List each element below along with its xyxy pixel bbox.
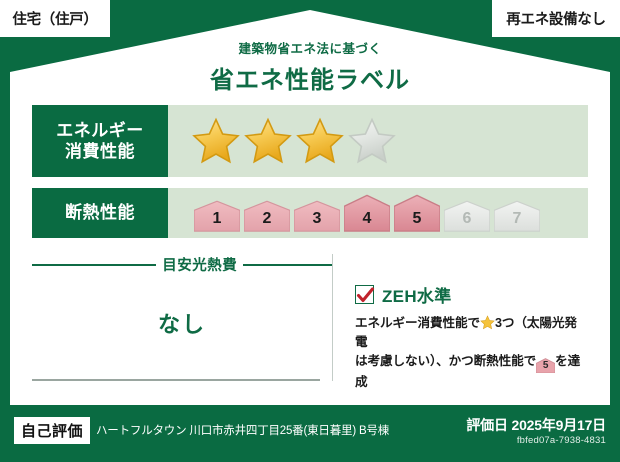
grade-badge-value: 5 [413,211,422,227]
star-icon-filled [244,117,292,165]
zeh-title-row: ZEH水準 [355,282,588,307]
energy-rating-value [168,105,588,177]
property-address: ハートフルタウン 川口市赤井四丁目25番(東日暮里) B号棟 [96,422,389,438]
zeh-checkbox[interactable] [355,285,374,304]
vertical-divider [332,254,333,381]
zeh-title: ZEH水準 [382,282,452,307]
utility-cost-header: 目安光熱費 [32,254,332,275]
star-icon-inline [480,315,495,330]
grade-badge-inline-value: 5 [543,360,548,371]
utility-cost-title: 目安光熱費 [162,254,237,275]
label-energy-performance: エネルギー 消費性能 [32,105,168,177]
insulation-rating-value: 1234567 [168,188,588,238]
grade-badge-on: 5 [394,194,440,232]
grade-badge-inline: 5 [536,358,555,373]
footer: 自己評価 ハートフルタウン 川口市赤井四丁目25番(東日暮里) B号棟 評価日 … [0,405,620,462]
grade-badge-value: 7 [513,211,522,227]
rule-bottom [32,379,320,381]
label-energy-line2: 消費性能 [65,141,135,162]
grade-scale: 1234567 [192,194,540,232]
utility-cost-value: なし [32,307,332,339]
badge-dwelling-type: 住宅（住戸） [0,0,110,37]
check-icon [354,284,377,307]
star-icon-filled [192,117,240,165]
grade-badge-on: 1 [194,200,240,232]
rule-left [32,264,156,266]
rule-right [243,264,332,266]
evaluation-date: 評価日 2025年9月17日 [466,415,606,435]
lower-section: 目安光熱費 なし ZEH水準 エネルギー消費性能で3つ（太陽 [32,250,588,395]
badge-renewable-equipment: 再エネ設備なし [492,0,620,37]
grade-badge-off: 6 [444,200,490,232]
energy-performance-label: 住宅（住戸） 再エネ設備なし 建築物省エネ法に基づく 省エネ性能ラベル エネルギ… [0,0,620,462]
evaluation-date-value: 2025年9月17日 [511,417,606,433]
zeh-desc-part1: エネルギー消費性能で [355,316,480,330]
self-evaluation-badge: 自己評価 [14,417,90,444]
grade-badge-on: 3 [294,200,340,232]
grade-badge-off: 7 [494,200,540,232]
grade-badge-on: 2 [244,200,290,232]
zeh-desc-part2: は考慮しない）、かつ断熱性能で [355,354,536,368]
grade-badge-on: 4 [344,194,390,232]
row-insulation-performance: 断熱性能 1234567 [32,188,588,238]
row-energy-performance: エネルギー 消費性能 [32,105,588,177]
label-insulation-line1: 断熱性能 [65,202,135,223]
utility-cost-panel: 目安光熱費 なし [32,250,332,395]
grade-badge-value: 2 [263,211,272,227]
star-icon-filled [296,117,344,165]
evaluation-id: fbfed07a-7938-4831 [517,435,606,446]
grade-badge-value: 6 [463,211,472,227]
star-rating [192,117,396,165]
grade-badge-value: 3 [313,211,322,227]
label-insulation-performance: 断熱性能 [32,188,168,238]
grade-badge-value: 1 [213,211,222,227]
grade-badge-value: 4 [363,211,372,227]
label-energy-line1: エネルギー [56,120,144,141]
evaluation-date-label: 評価日 [466,417,507,433]
star-icon-empty [348,117,396,165]
zeh-description: エネルギー消費性能で3つ（太陽光発電は考慮しない）、かつ断熱性能で5を達成 [355,314,588,392]
zeh-panel: ZEH水準 エネルギー消費性能で3つ（太陽光発電は考慮しない）、かつ断熱性能で5… [343,250,588,395]
